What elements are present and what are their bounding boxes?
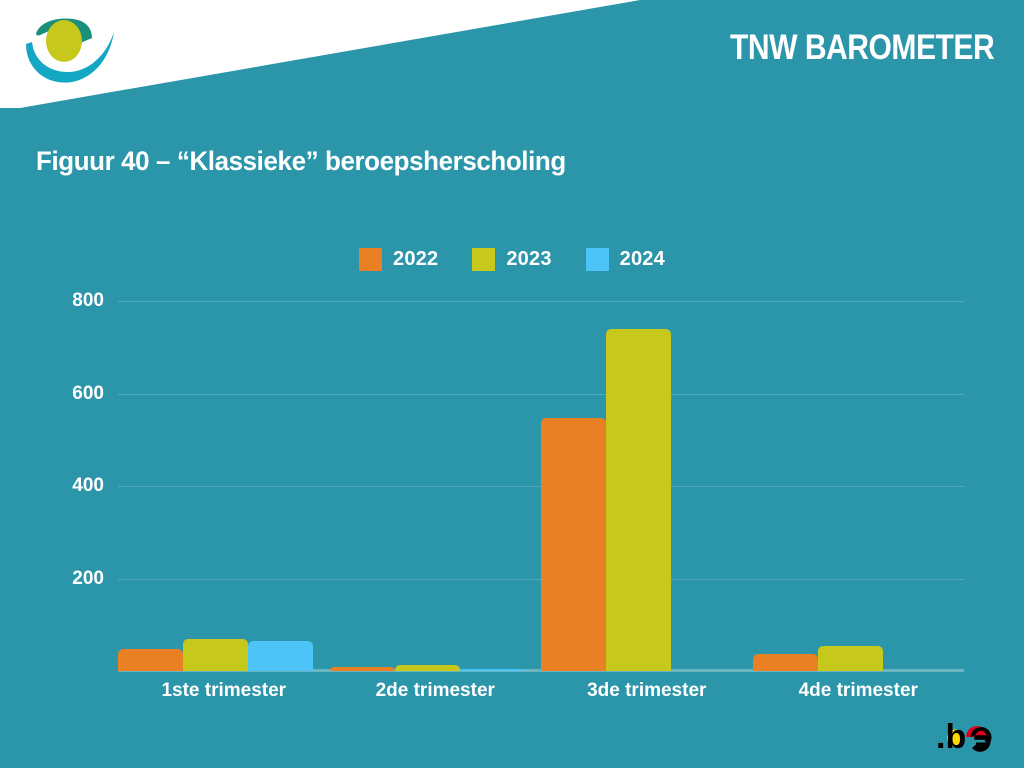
page-title: Figuur 40 – “Klassieke” beroepsherscholi… <box>36 146 566 177</box>
bar-2023-2[interactable] <box>395 665 460 671</box>
legend-label-2024: 2024 <box>620 248 665 271</box>
y-axis-tick-label: 800 <box>72 290 104 312</box>
bar-slot <box>818 283 883 671</box>
bar-2022-2[interactable] <box>330 667 395 671</box>
legend-item-2022[interactable]: 2022 <box>359 248 438 271</box>
legend-item-2024[interactable]: 2024 <box>586 248 665 271</box>
bar-2024-2[interactable] <box>460 669 525 671</box>
x-axis-tick-label: 3de trimester <box>541 680 753 702</box>
y-axis-tick-label: 200 <box>72 568 104 590</box>
bar-2023-3[interactable] <box>606 329 671 671</box>
y-axis-tick-label: 600 <box>72 383 104 405</box>
bar-2022-3[interactable] <box>541 418 606 671</box>
legend-label-2022: 2022 <box>393 248 438 271</box>
legend-item-2023[interactable]: 2023 <box>472 248 551 271</box>
chart-bars: 1ste trimester2de trimester3de trimester… <box>118 283 964 671</box>
x-axis-tick-label: 4de trimester <box>753 680 965 702</box>
bar-slot <box>118 283 183 671</box>
bar-slot <box>183 283 248 671</box>
bar-slot <box>753 283 818 671</box>
page-header: TNW BAROMETER <box>0 0 1024 108</box>
bar-slot <box>330 283 395 671</box>
bar-group: 2de trimester <box>330 283 542 671</box>
dot-be-logo-icon: .b e <box>936 712 1006 754</box>
legend-swatch-2022 <box>359 248 382 271</box>
legend-swatch-2023 <box>472 248 495 271</box>
bar-slot <box>671 283 736 671</box>
brand-title: TNW BAROMETER <box>730 28 994 68</box>
bar-slot <box>883 283 948 671</box>
bar-group: 4de trimester <box>753 283 965 671</box>
svg-text:.b: .b <box>936 718 966 754</box>
chart-plot-area: 200400600800 1ste trimester2de trimester… <box>118 283 964 671</box>
legend-label-2023: 2023 <box>506 248 551 271</box>
y-axis-tick-label: 400 <box>72 475 104 497</box>
bar-2024-1[interactable] <box>248 641 313 671</box>
bar-2023-1[interactable] <box>183 639 248 671</box>
x-axis-tick-label: 2de trimester <box>330 680 542 702</box>
chart-legend: 2022 2023 2024 <box>0 248 1024 271</box>
bar-2022-4[interactable] <box>753 654 818 671</box>
bar-slot <box>460 283 525 671</box>
bar-group: 1ste trimester <box>118 283 330 671</box>
legend-swatch-2024 <box>586 248 609 271</box>
bar-2023-4[interactable] <box>818 646 883 671</box>
bar-group: 3de trimester <box>541 283 753 671</box>
tnw-eye-logo-icon <box>18 14 122 88</box>
bar-slot <box>395 283 460 671</box>
x-axis-tick-label: 1ste trimester <box>118 680 330 702</box>
bar-slot <box>606 283 671 671</box>
bar-slot <box>541 283 606 671</box>
bar-slot <box>248 283 313 671</box>
bar-2022-1[interactable] <box>118 649 183 671</box>
